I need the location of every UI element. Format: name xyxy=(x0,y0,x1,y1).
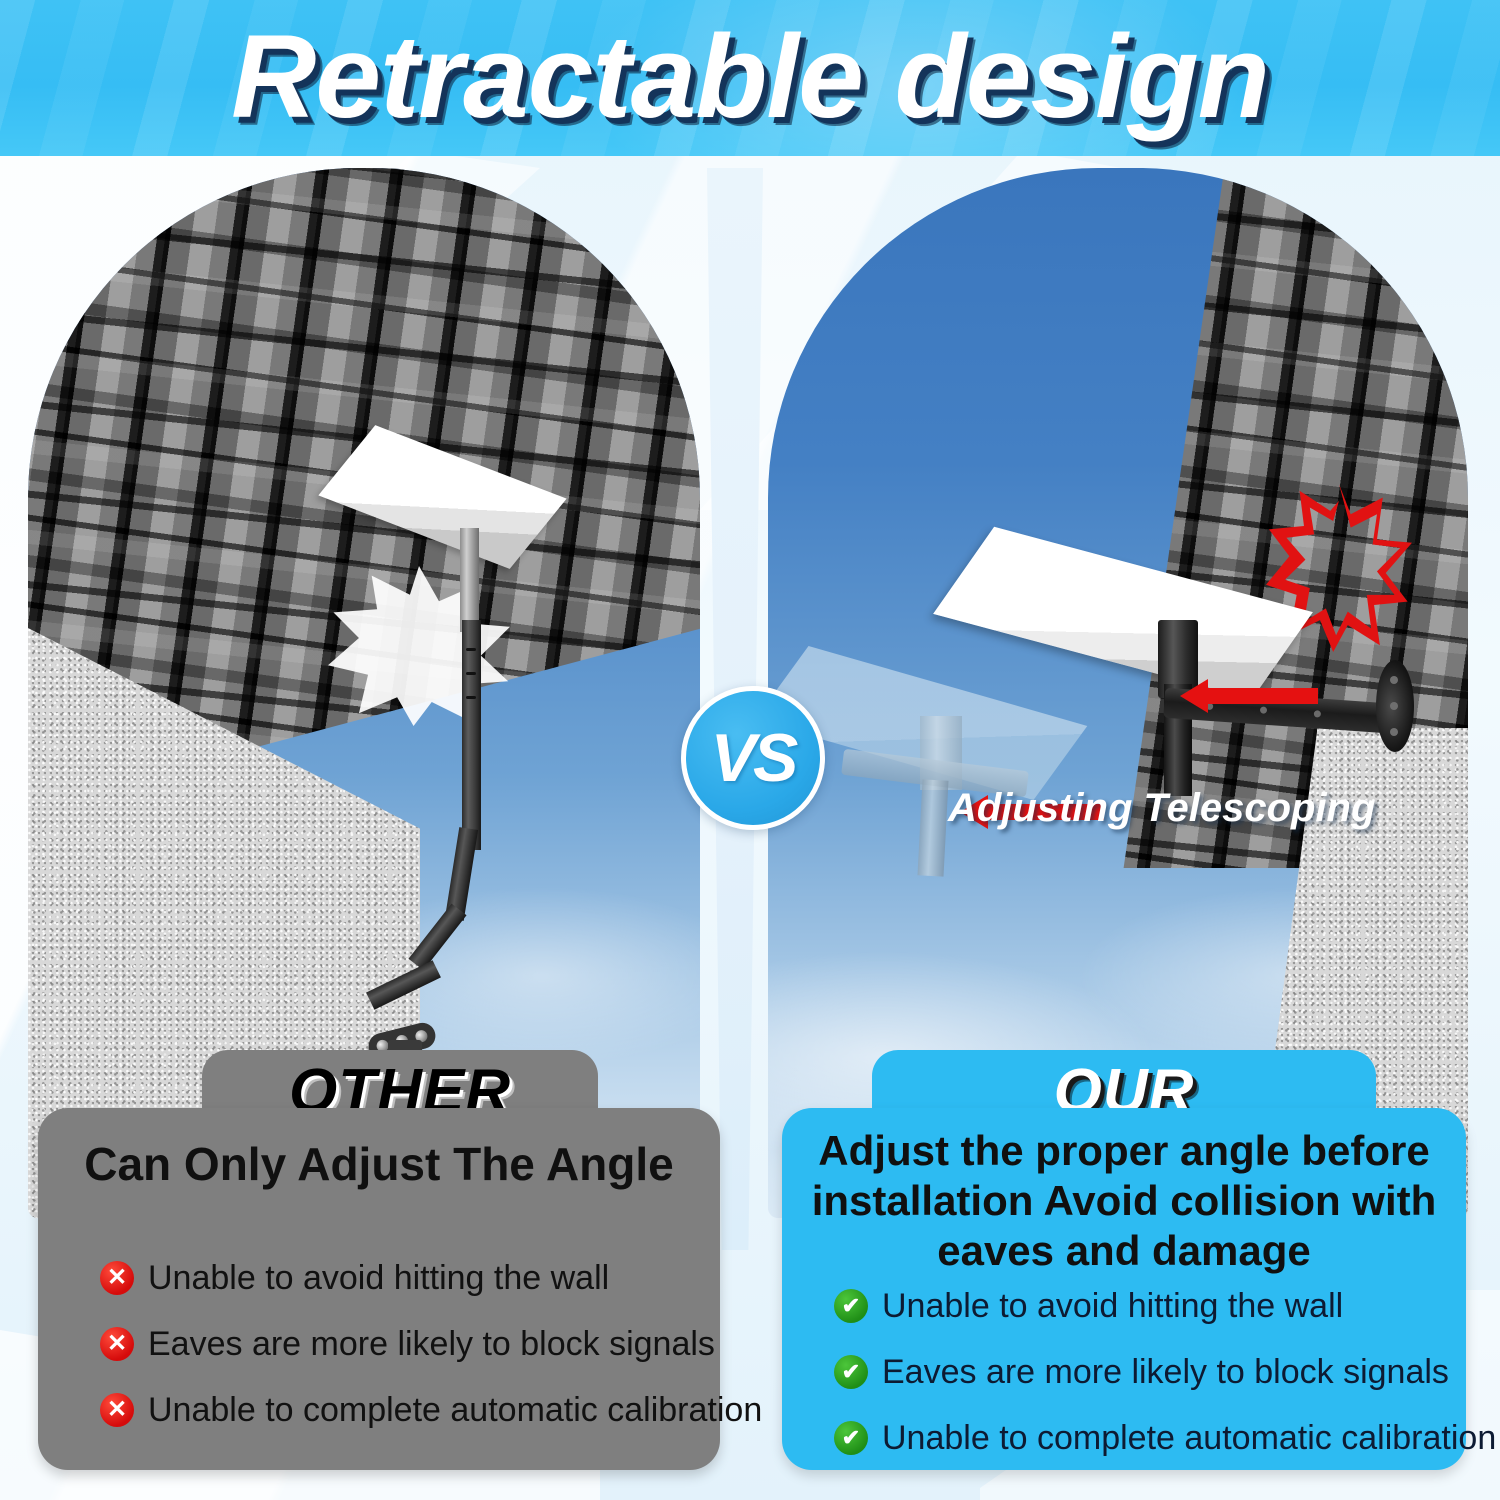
list-item: ✕ Unable to avoid hitting the wall xyxy=(100,1258,720,1298)
other-bullet-list: ✕ Unable to avoid hitting the wall ✕ Eav… xyxy=(38,1258,720,1456)
our-headline-line1: Adjust the proper angle before xyxy=(798,1126,1450,1176)
our-headline-line2: installation Avoid collision with xyxy=(798,1176,1450,1226)
list-item: ✔ Unable to complete automatic calibrati… xyxy=(834,1418,1466,1458)
adjust-arrow-icon xyxy=(1206,688,1318,704)
list-item: ✔ Eaves are more likely to block signals xyxy=(834,1352,1466,1392)
check-icon: ✔ xyxy=(834,1421,868,1455)
bullet-text: Unable to complete automatic calibration xyxy=(148,1390,762,1430)
other-headline: Can Only Adjust The Angle xyxy=(38,1138,720,1190)
bullet-text: Unable to complete automatic calibration xyxy=(882,1418,1496,1458)
other-card: Can Only Adjust The Angle ✕ Unable to av… xyxy=(38,1108,720,1470)
check-icon: ✔ xyxy=(834,1289,868,1323)
our-headline-line3: eaves and damage xyxy=(798,1226,1450,1276)
page-title: Retractable design xyxy=(0,6,1500,148)
dish-lower-pole xyxy=(462,620,481,850)
telescoping-caption: Adjusting Telescoping xyxy=(948,786,1418,831)
our-headline: Adjust the proper angle before installat… xyxy=(782,1126,1466,1276)
x-icon: ✕ xyxy=(100,1261,134,1295)
x-icon: ✕ xyxy=(100,1327,134,1361)
bullet-text: Unable to avoid hitting the wall xyxy=(148,1258,609,1298)
dish-upper-pole xyxy=(460,528,479,632)
list-item: ✔ Unable to avoid hitting the wall xyxy=(834,1286,1466,1326)
bullet-text: Unable to avoid hitting the wall xyxy=(882,1286,1343,1326)
list-item: ✕ Unable to complete automatic calibrati… xyxy=(100,1390,720,1430)
check-icon: ✔ xyxy=(834,1355,868,1389)
ghost-drop-tube xyxy=(918,779,949,876)
infographic-page: Retractable design xyxy=(0,0,1500,1500)
x-icon: ✕ xyxy=(100,1393,134,1427)
our-card: Adjust the proper angle before installat… xyxy=(782,1108,1466,1470)
our-bullet-list: ✔ Unable to avoid hitting the wall ✔ Eav… xyxy=(782,1286,1466,1484)
bullet-text: Eaves are more likely to block signals xyxy=(882,1352,1449,1392)
dish-bent-pole xyxy=(388,828,484,1028)
wall-mount-plate xyxy=(1376,660,1414,752)
bullet-text: Eaves are more likely to block signals xyxy=(148,1324,715,1364)
vs-badge: VS xyxy=(681,686,825,830)
vs-label: VS xyxy=(711,724,796,792)
list-item: ✕ Eaves are more likely to block signals xyxy=(100,1324,720,1364)
